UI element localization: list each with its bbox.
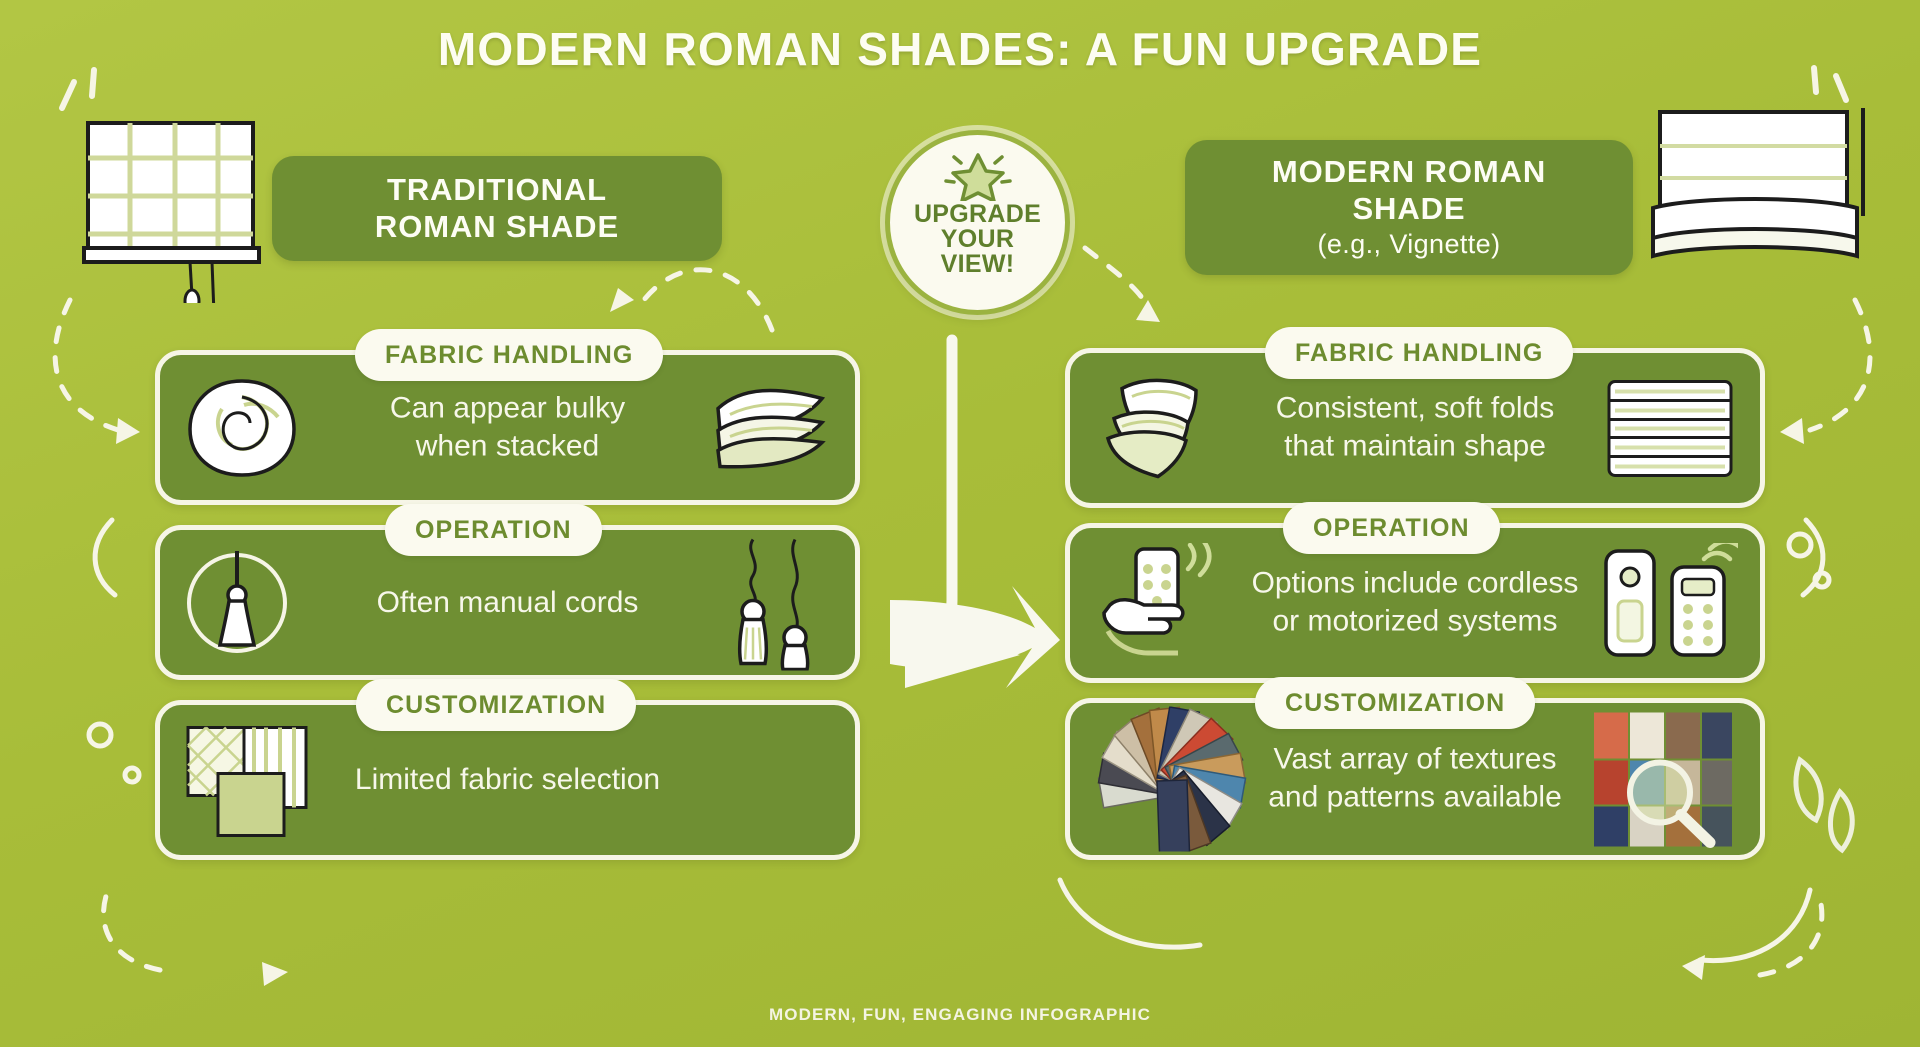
card-text-line1: Consistent, soft folds bbox=[1276, 392, 1554, 425]
tassel-cords-icon bbox=[723, 535, 833, 670]
traditional-roman-shade-illustration bbox=[80, 118, 295, 303]
card-text-line1: Limited fabric selection bbox=[355, 763, 660, 796]
card-modern-customization: CUSTOMIZATION Vast array of textures and… bbox=[1065, 698, 1765, 860]
column-header-line1: MODERN ROMAN bbox=[1272, 154, 1546, 191]
column-header-sub: (e.g., Vignette) bbox=[1317, 228, 1500, 260]
badge-line3: VIEW! bbox=[941, 252, 1015, 277]
folded-fabric-stack-icon bbox=[708, 380, 833, 475]
card-text-line2: and patterns available bbox=[1268, 781, 1562, 814]
card-label: FABRIC HANDLING bbox=[355, 329, 663, 381]
card-traditional-operation: OPERATION Often manual cords bbox=[155, 525, 860, 680]
card-modern-fabric-handling: FABRIC HANDLING Consistent, soft folds t… bbox=[1065, 348, 1765, 508]
pleated-shade-icon bbox=[1603, 376, 1738, 481]
infographic-canvas: MODERN ROMAN SHADES: A FUN UPGRADE TRADI… bbox=[0, 0, 1920, 1047]
card-traditional-customization: CUSTOMIZATION Limited fabric selection bbox=[155, 700, 860, 860]
card-label: OPERATION bbox=[1283, 502, 1500, 554]
card-text-line1: Can appear bulky bbox=[390, 391, 625, 424]
motor-and-remote-icon bbox=[1598, 543, 1738, 663]
column-header-line1: TRADITIONAL bbox=[387, 172, 607, 209]
column-header-line2: SHADE bbox=[1352, 191, 1465, 228]
card-label: CUSTOMIZATION bbox=[356, 679, 636, 731]
card-text-line2: when stacked bbox=[416, 430, 599, 463]
card-modern-operation: OPERATION Options include cordless or mo… bbox=[1065, 523, 1765, 683]
card-text-line1: Options include cordless bbox=[1252, 567, 1579, 600]
modern-roman-shade-illustration bbox=[1635, 100, 1885, 290]
card-text-line1: Vast array of textures bbox=[1274, 743, 1557, 776]
card-text: Limited fabric selection bbox=[160, 761, 855, 799]
sparkle-star-icon bbox=[942, 149, 1014, 201]
upgrade-your-view-badge: UPGRADE YOUR VIEW! bbox=[885, 130, 1070, 315]
card-label: FABRIC HANDLING bbox=[1265, 327, 1573, 379]
column-header-line2: ROMAN SHADE bbox=[375, 209, 619, 246]
card-text-line1: Often manual cords bbox=[377, 585, 639, 618]
center-curved-arrow bbox=[890, 340, 1060, 688]
swatch-magnifier-icon bbox=[1588, 707, 1738, 852]
badge-line2: YOUR bbox=[941, 227, 1014, 252]
badge-line1: UPGRADE bbox=[914, 202, 1041, 227]
page-title: MODERN ROMAN SHADES: A FUN UPGRADE bbox=[0, 22, 1920, 76]
leaf-sprig-icon bbox=[1796, 760, 1852, 850]
card-text-line2: that maintain shape bbox=[1284, 430, 1546, 463]
column-header-traditional: TRADITIONAL ROMAN SHADE bbox=[272, 156, 722, 261]
column-header-modern: MODERN ROMAN SHADE (e.g., Vignette) bbox=[1185, 140, 1633, 275]
card-text-line2: or motorized systems bbox=[1272, 605, 1557, 638]
card-traditional-fabric-handling: FABRIC HANDLING Can appear bulky when st… bbox=[155, 350, 860, 505]
card-label: CUSTOMIZATION bbox=[1255, 677, 1535, 729]
footer-caption: MODERN, FUN, ENGAGING INFOGRAPHIC bbox=[0, 1005, 1920, 1025]
card-label: OPERATION bbox=[385, 504, 602, 556]
